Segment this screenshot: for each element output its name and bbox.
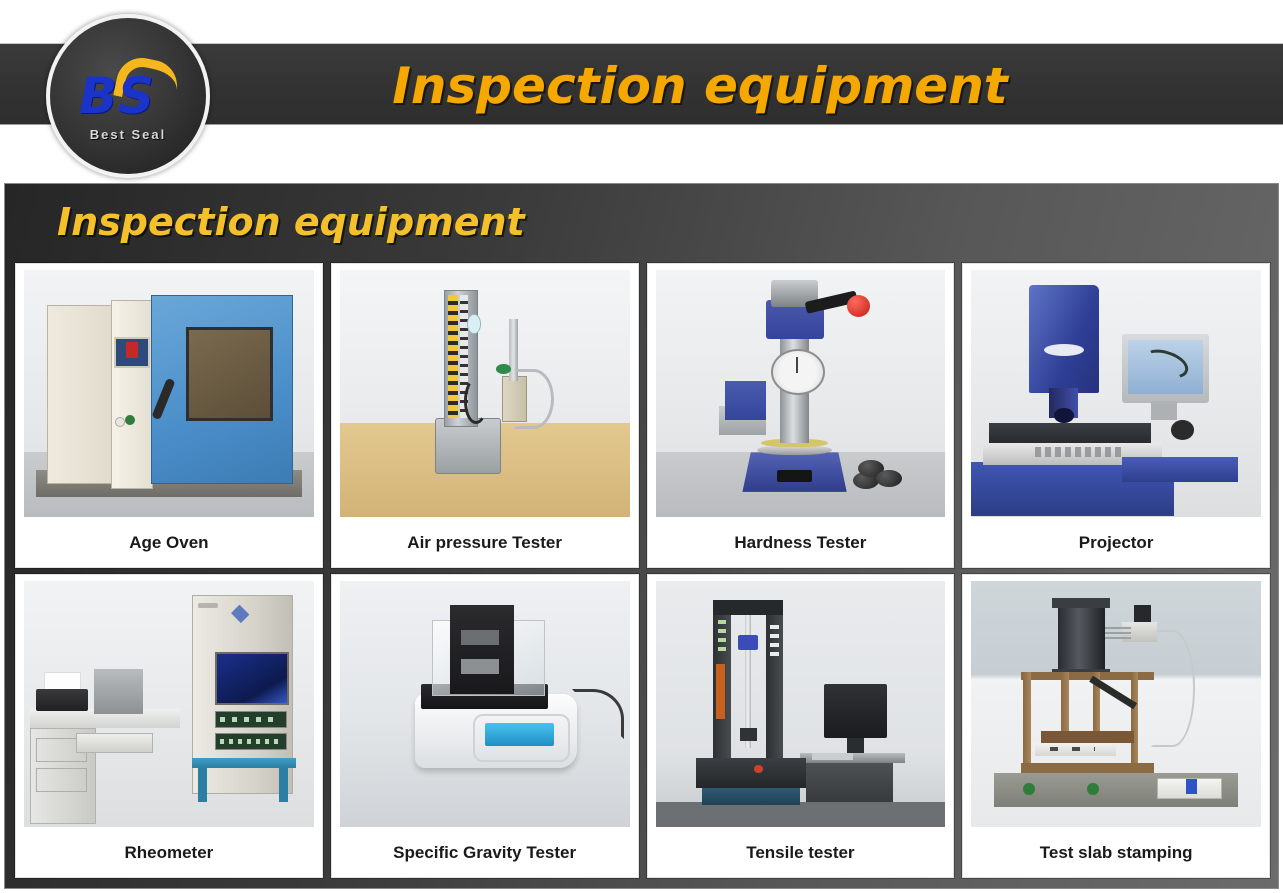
specific-gravity-tester-photo [340, 581, 630, 828]
equipment-card[interactable]: Age Oven [15, 263, 323, 568]
equipment-card[interactable]: Rheometer [15, 574, 323, 879]
test-slab-stamping-photo [971, 581, 1261, 828]
company-logo: B S Best Seal [46, 14, 210, 178]
equipment-caption: Test slab stamping [963, 829, 1269, 877]
equipment-caption: Age Oven [16, 519, 322, 567]
content-panel: Inspection equipment Age Oven [4, 183, 1279, 889]
logo-tagline: Best Seal [90, 127, 167, 142]
logo-mark: B S [73, 57, 183, 129]
logo-letter-s: S [118, 71, 154, 121]
section-title: Inspection equipment [57, 200, 525, 244]
equipment-card[interactable]: Air pressure Tester [331, 263, 639, 568]
equipment-card[interactable]: Hardness Tester [647, 263, 955, 568]
equipment-caption: Hardness Tester [648, 519, 954, 567]
age-oven-photo [24, 270, 314, 517]
equipment-card[interactable]: Tensile tester [647, 574, 955, 879]
equipment-caption: Projector [963, 519, 1269, 567]
equipment-card[interactable]: Specific Gravity Tester [331, 574, 639, 879]
logo-letter-b: B [79, 71, 117, 121]
equipment-caption: Tensile tester [648, 829, 954, 877]
hardness-tester-photo [656, 270, 946, 517]
equipment-card[interactable]: Test slab stamping [962, 574, 1270, 879]
tensile-tester-photo [656, 581, 946, 828]
equipment-caption: Specific Gravity Tester [332, 829, 638, 877]
page-header: B S Best Seal Inspection equipment [0, 0, 1283, 183]
air-pressure-tester-photo [340, 270, 630, 517]
rheometer-photo [24, 581, 314, 828]
equipment-grid: Age Oven Air pressure Tester [15, 263, 1270, 878]
equipment-caption: Rheometer [16, 829, 322, 877]
equipment-caption: Air pressure Tester [332, 519, 638, 567]
projector-photo [971, 270, 1261, 517]
equipment-card[interactable]: Projector [962, 263, 1270, 568]
page-title: Inspection equipment [320, 47, 1080, 125]
